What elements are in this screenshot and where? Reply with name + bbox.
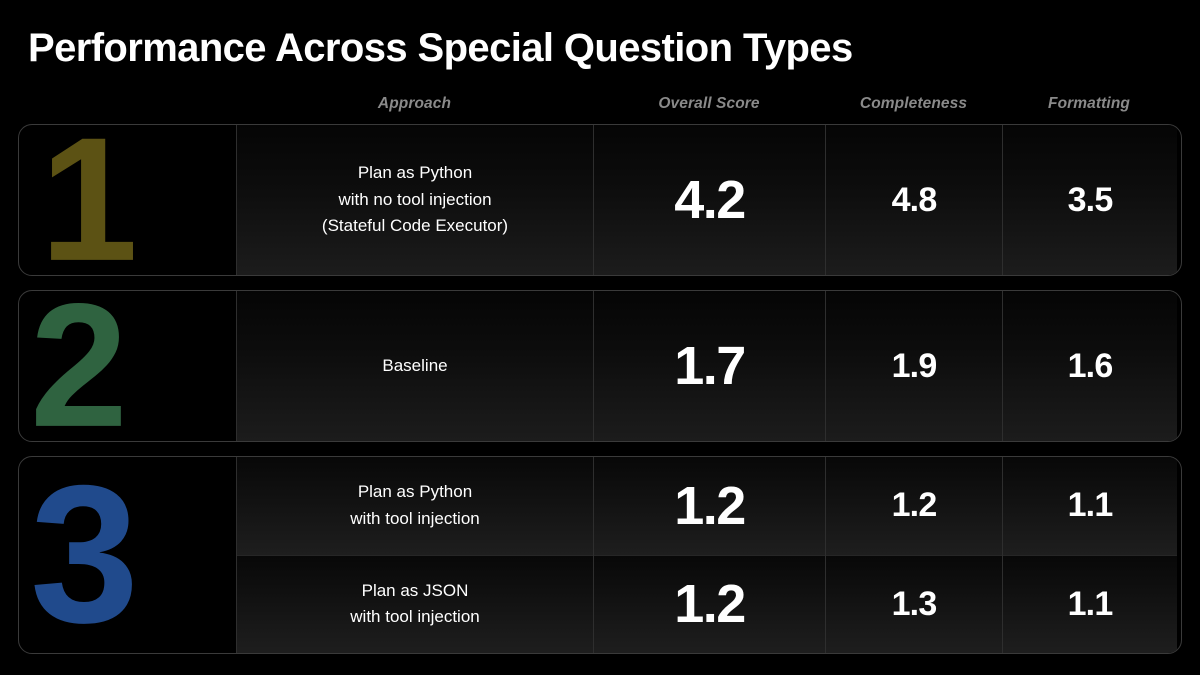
rank-cell-1 bbox=[19, 125, 237, 275]
table-row: 3 Plan as Python with tool injection Pla… bbox=[18, 456, 1182, 654]
approach-cell-1: Plan as Python with no tool injection (S… bbox=[237, 125, 594, 275]
approach-line: with tool injection bbox=[350, 509, 479, 528]
approach-line: with tool injection bbox=[350, 607, 479, 626]
approach-line: Plan as Python bbox=[358, 482, 472, 501]
approach-text-1: Plan as Python with no tool injection (S… bbox=[312, 160, 518, 239]
formatting-subcell-3b: 1.1 bbox=[1003, 556, 1177, 654]
slide-root: Performance Across Special Question Type… bbox=[0, 0, 1200, 675]
completeness-value: 4.8 bbox=[892, 181, 937, 220]
table-row: 2 Baseline 1.7 1.9 1.6 bbox=[18, 290, 1182, 442]
overall-score-value: 1.2 bbox=[674, 475, 745, 537]
approach-subcell-3a: Plan as Python with tool injection bbox=[237, 457, 593, 556]
overall-score-cell-2: 1.7 bbox=[594, 291, 826, 441]
column-header-completeness: Completeness bbox=[825, 95, 1002, 113]
approach-text-2: Baseline bbox=[372, 353, 457, 379]
formatting-subcell-3a: 1.1 bbox=[1003, 457, 1177, 556]
formatting-cell-3: 1.1 1.1 bbox=[1003, 457, 1177, 653]
row-card-1: Plan as Python with no tool injection (S… bbox=[18, 124, 1182, 276]
column-header-approach: Approach bbox=[236, 95, 593, 113]
completeness-value: 1.9 bbox=[892, 347, 937, 386]
approach-cell-2: Baseline bbox=[237, 291, 594, 441]
overall-subcell-3b: 1.2 bbox=[594, 556, 825, 654]
overall-score-value: 4.2 bbox=[674, 169, 745, 231]
approach-line: Plan as Python bbox=[358, 163, 472, 182]
approach-subcell-3b: Plan as JSON with tool injection bbox=[237, 556, 593, 654]
overall-subcell-3a: 1.2 bbox=[594, 457, 825, 556]
formatting-cell-1: 3.5 bbox=[1003, 125, 1177, 275]
overall-score-value: 1.7 bbox=[674, 335, 745, 397]
approach-line: Baseline bbox=[382, 356, 447, 375]
results-table: Approach Overall Score Completeness Form… bbox=[18, 88, 1182, 654]
formatting-value: 1.1 bbox=[1068, 486, 1113, 525]
column-header-overall-score: Overall Score bbox=[593, 95, 825, 113]
rank-cell-3 bbox=[19, 457, 237, 653]
column-header-formatting: Formatting bbox=[1002, 95, 1176, 113]
formatting-cell-2: 1.6 bbox=[1003, 291, 1177, 441]
formatting-value: 1.6 bbox=[1068, 347, 1113, 386]
row-card-3: Plan as Python with tool injection Plan … bbox=[18, 456, 1182, 654]
approach-line: Plan as JSON bbox=[362, 581, 469, 600]
approach-line: with no tool injection bbox=[338, 190, 491, 209]
formatting-value: 3.5 bbox=[1068, 181, 1113, 220]
completeness-cell-2: 1.9 bbox=[826, 291, 1003, 441]
completeness-cell-3: 1.2 1.3 bbox=[826, 457, 1003, 653]
completeness-value: 1.3 bbox=[892, 585, 937, 624]
rank-cell-2 bbox=[19, 291, 237, 441]
overall-score-value: 1.2 bbox=[674, 573, 745, 635]
overall-score-cell-3: 1.2 1.2 bbox=[594, 457, 826, 653]
table-header-row: Approach Overall Score Completeness Form… bbox=[18, 88, 1182, 124]
row-card-2: Baseline 1.7 1.9 1.6 bbox=[18, 290, 1182, 442]
approach-text-3a: Plan as Python with tool injection bbox=[340, 479, 489, 532]
completeness-cell-1: 4.8 bbox=[826, 125, 1003, 275]
completeness-subcell-3a: 1.2 bbox=[826, 457, 1002, 556]
table-row: 1 Plan as Python with no tool injection … bbox=[18, 124, 1182, 276]
formatting-value: 1.1 bbox=[1068, 585, 1113, 624]
approach-cell-3: Plan as Python with tool injection Plan … bbox=[237, 457, 594, 653]
overall-score-cell-1: 4.2 bbox=[594, 125, 826, 275]
page-title: Performance Across Special Question Type… bbox=[28, 26, 853, 71]
approach-line: (Stateful Code Executor) bbox=[322, 216, 508, 235]
completeness-subcell-3b: 1.3 bbox=[826, 556, 1002, 654]
approach-text-3b: Plan as JSON with tool injection bbox=[340, 578, 489, 631]
completeness-value: 1.2 bbox=[892, 486, 937, 525]
